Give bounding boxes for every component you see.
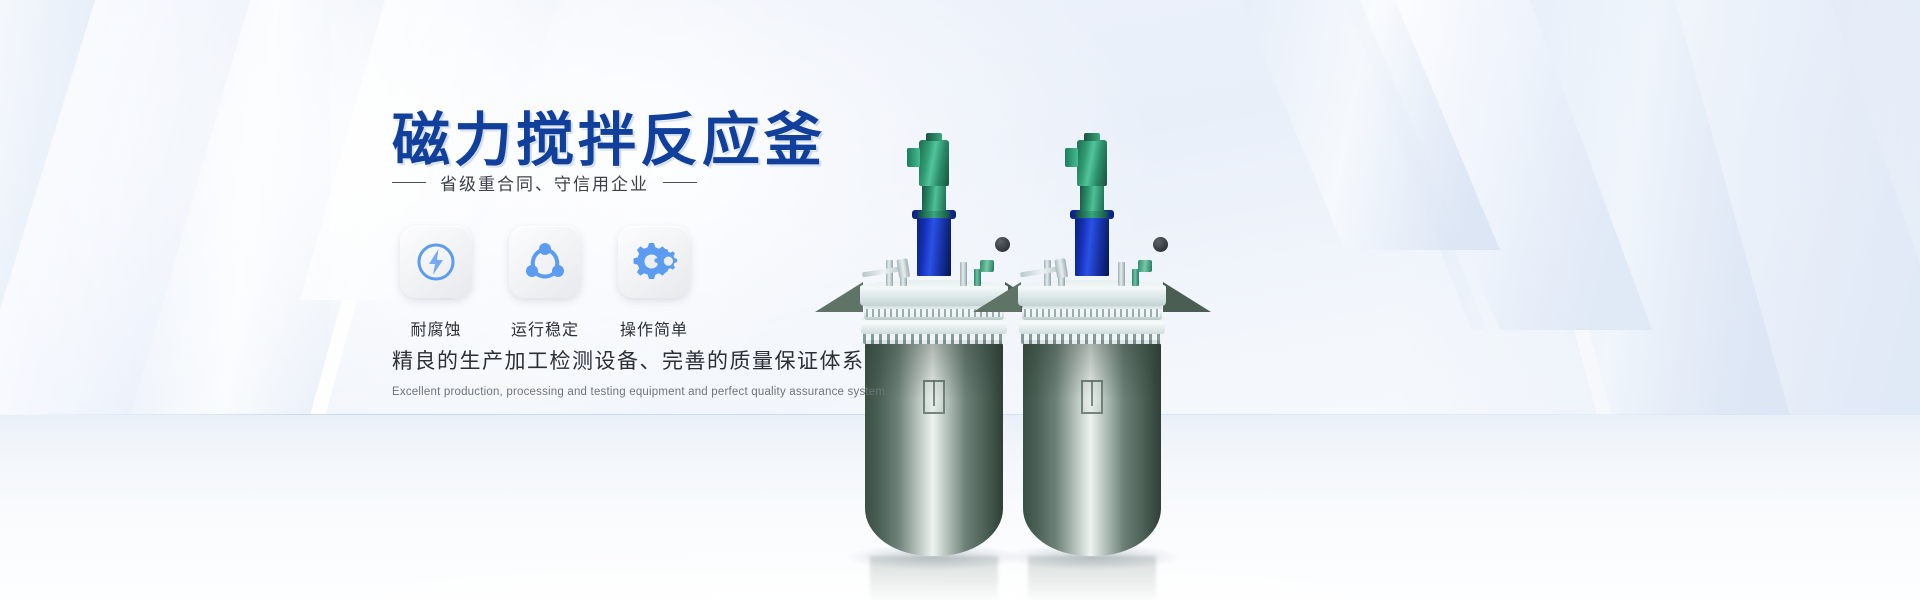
banner-subtitle-row: 省级重合同、守信用企业	[392, 170, 697, 195]
support-leg-right	[1163, 282, 1211, 312]
feature-label: 耐腐蚀	[410, 316, 461, 340]
share-nodes-icon	[523, 240, 567, 284]
banner-headline: 磁力搅拌反应釜	[392, 93, 826, 177]
pressure-gauge-icon	[995, 237, 1010, 252]
valve-icon	[980, 260, 994, 272]
vessel-body	[1023, 340, 1161, 556]
banner-subtitle: 省级重合同、守信用企业	[440, 170, 649, 195]
floor-reflection	[870, 556, 998, 600]
right-rule	[663, 182, 697, 183]
product-image-group	[840, 0, 1240, 600]
sight-glass-icon	[1081, 380, 1103, 414]
feature-item-simple-operation[interactable]: 操作简单	[618, 226, 690, 340]
feature-icon-tile	[400, 226, 472, 298]
promo-banner: 磁力搅拌反应釜 省级重合同、守信用企业 耐腐蚀	[0, 0, 1920, 600]
pressure-gauge-icon	[1153, 237, 1168, 252]
tagline-block: 精良的生产加工检测设备、完善的质量保证体系 Excellent producti…	[392, 345, 885, 398]
drive-motor	[919, 140, 949, 186]
magnetic-coupling	[917, 216, 951, 276]
feature-list: 耐腐蚀 运行稳定	[400, 226, 690, 340]
floor-reflection	[1028, 556, 1156, 600]
lightning-bolt-icon	[414, 240, 458, 284]
upper-bolt-ring	[1022, 305, 1162, 320]
vessel-body	[865, 340, 1003, 556]
support-leg-left	[973, 282, 1021, 312]
feature-label: 运行稳定	[511, 316, 579, 340]
feature-label: 操作简单	[620, 316, 688, 340]
valve-icon	[1138, 260, 1152, 272]
tagline-chinese: 精良的生产加工检测设备、完善的质量保证体系	[392, 345, 885, 375]
left-rule	[392, 182, 426, 183]
sight-glass-icon	[923, 380, 945, 414]
feature-icon-tile	[509, 226, 581, 298]
feature-icon-tile	[618, 226, 690, 298]
drive-motor	[1077, 140, 1107, 186]
tagline-english: Excellent production, processing and tes…	[392, 386, 885, 398]
feature-item-corrosion-resistant[interactable]: 耐腐蚀	[400, 226, 472, 340]
feature-item-stable-operation[interactable]: 运行稳定	[509, 226, 581, 340]
gears-icon	[631, 241, 677, 283]
gearbox	[1080, 184, 1104, 212]
gearbox	[922, 184, 946, 212]
banner-content: 磁力搅拌反应釜 省级重合同、守信用企业 耐腐蚀	[0, 0, 860, 600]
magnetic-coupling	[1075, 216, 1109, 276]
